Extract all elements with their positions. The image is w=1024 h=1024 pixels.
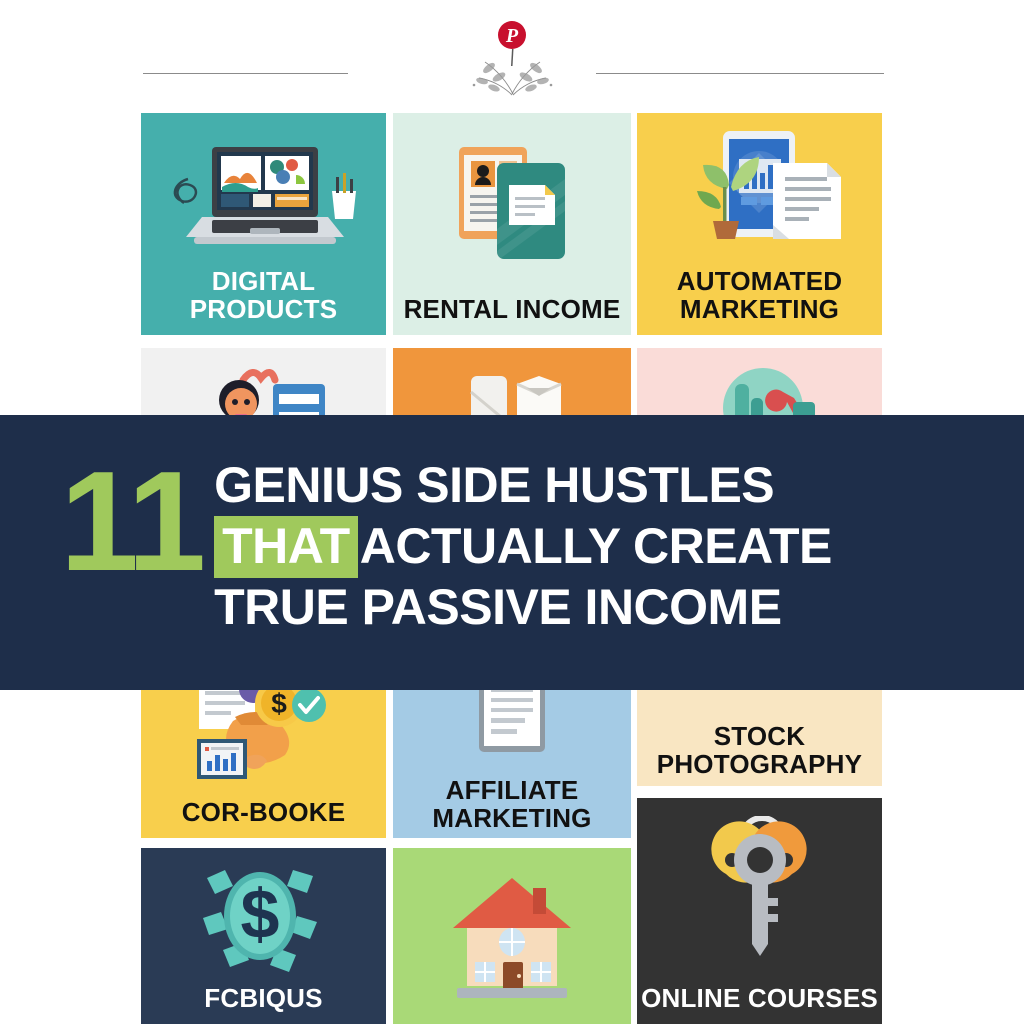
packages-icon — [393, 348, 631, 418]
svg-text:$: $ — [271, 688, 287, 719]
tile-cor-booke[interactable]: $ COR-BOOKE — [141, 688, 386, 838]
house-icon — [393, 848, 631, 1024]
tile-label: STOCK PHOTOGRAPHY — [637, 706, 882, 786]
tile-label: RENTAL INCOME — [393, 295, 631, 335]
headline-highlight: THAT — [214, 516, 358, 578]
laptop-design-icon — [141, 113, 386, 267]
tile-row2-right[interactable] — [637, 348, 882, 418]
tile-affiliate-marketing[interactable]: AFFILIATE MARKETING — [393, 688, 631, 838]
documents-folder-icon — [393, 113, 631, 295]
tile-label: FCBIQUS — [141, 984, 386, 1024]
headline-line-1: GENIUS SIDE HUSTLES — [214, 455, 984, 516]
divider-line-right — [596, 73, 884, 74]
tile-automated-marketing[interactable]: AUTOMATED MARKETING — [637, 113, 882, 335]
headline-line-3: TRUE PASSIVE INCOME — [214, 577, 984, 638]
tile-row2-mid[interactable] — [393, 348, 631, 418]
tablet-chart-plant-icon — [637, 113, 882, 267]
svg-text:P: P — [505, 25, 519, 47]
person-card-icon — [141, 348, 386, 418]
tile-fcbiqus[interactable]: $ FCBIQUS — [141, 848, 386, 1024]
tile-rental-income[interactable]: RENTAL INCOME — [393, 113, 631, 335]
dollar-money-icon: $ — [141, 848, 386, 984]
tile-label: AUTOMATED MARKETING — [637, 267, 882, 335]
tile-digital-products[interactable]: DIGITAL PRODUCTS — [141, 113, 386, 335]
tile-label: DIGITAL PRODUCTS — [141, 267, 386, 335]
svg-text:$: $ — [240, 875, 279, 953]
headline-line-2: THATACTUALLY CREATE — [214, 516, 984, 577]
header-ornament: P — [0, 0, 1024, 108]
headline-line-2-rest: ACTUALLY CREATE — [360, 518, 832, 574]
clipboard-document-icon — [393, 688, 631, 776]
tile-stock-photography[interactable]: STOCK PHOTOGRAPHY — [637, 688, 882, 786]
headline-number: 11 — [60, 461, 202, 583]
headline-lines: GENIUS SIDE HUSTLES THATACTUALLY CREATE … — [214, 451, 984, 638]
laurel-wreath-icon — [455, 52, 570, 98]
tile-label: COR-BOOKE — [141, 798, 386, 838]
divider-line-left — [143, 73, 348, 74]
money-bag-chart-icon: $ — [141, 688, 386, 798]
tile-label: AFFILIATE MARKETING — [393, 776, 631, 838]
tile-online-courses[interactable]: ONLINE COURSES — [637, 798, 882, 1024]
photo-card-icon — [637, 688, 882, 706]
keys-icon — [637, 798, 882, 984]
tools-icon — [637, 348, 882, 418]
tile-house[interactable] — [393, 848, 631, 1024]
title-banner: 11 GENIUS SIDE HUSTLES THATACTUALLY CREA… — [0, 415, 1024, 690]
tile-row2-left[interactable] — [141, 348, 386, 418]
infographic-canvas: P — [0, 0, 1024, 1024]
tile-label: ONLINE COURSES — [637, 984, 882, 1024]
